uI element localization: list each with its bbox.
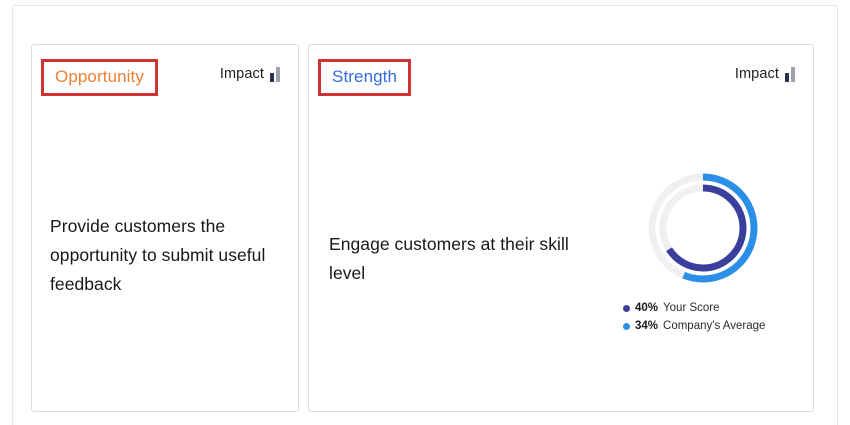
insight-text: Provide customers the opportunity to sub…	[50, 212, 276, 299]
gauge-legend: 40% Your Score 34% Company's Average	[613, 300, 793, 334]
card-type-label: Opportunity	[55, 67, 144, 86]
insight-card-list: Opportunity Impact Provide customers the…	[31, 44, 821, 412]
legend-value: 34%	[635, 318, 658, 334]
content-panel: Opportunity Impact Provide customers the…	[12, 5, 838, 425]
insight-text: Engage customers at their skill level	[329, 230, 597, 288]
card-header: Strength Impact	[309, 45, 813, 105]
legend-item-your-score: 40% Your Score	[623, 300, 793, 316]
legend-label: Company's Average	[663, 318, 765, 334]
legend-value: 40%	[635, 300, 658, 316]
card-type-label: Strength	[332, 67, 397, 86]
insight-card-opportunity[interactable]: Opportunity Impact Provide customers the…	[31, 44, 299, 412]
impact-label: Impact	[220, 66, 264, 82]
bar-chart-icon	[785, 67, 795, 82]
impact-metric[interactable]: Impact	[220, 66, 280, 82]
card-header: Opportunity Impact	[32, 45, 298, 105]
screenshot-root: Opportunity Impact Provide customers the…	[0, 0, 850, 425]
score-gauge: 40% Your Score 34% Company's Average	[613, 168, 793, 336]
legend-label: Your Score	[663, 300, 719, 316]
insight-card-strength[interactable]: Strength Impact Engage customers at thei…	[308, 44, 814, 412]
annotation-box-strength: Strength	[318, 59, 411, 96]
legend-dot-icon	[623, 323, 630, 330]
legend-item-company-average: 34% Company's Average	[623, 318, 793, 334]
annotation-box-opportunity: Opportunity	[41, 59, 158, 96]
impact-metric[interactable]: Impact	[735, 66, 795, 82]
donut-chart	[643, 168, 763, 288]
card-body: Provide customers the opportunity to sub…	[32, 105, 298, 411]
legend-dot-icon	[623, 305, 630, 312]
bar-chart-icon	[270, 67, 280, 82]
impact-label: Impact	[735, 66, 779, 82]
